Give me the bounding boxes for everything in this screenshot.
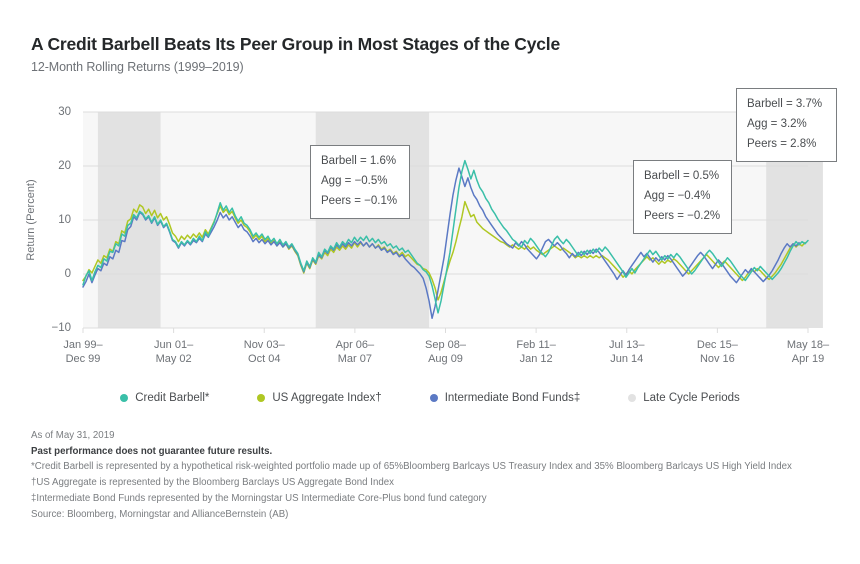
y-axis-tick-label: 0	[65, 268, 71, 280]
legend-item-late-cycle-periods[interactable]: Late Cycle Periods	[628, 392, 740, 404]
x-axis-tick-label-line1: Sep 08–	[425, 339, 467, 351]
x-axis-tick-8: Dec 15–Nov 16	[697, 339, 739, 365]
y-axis-tick-label: −10	[51, 322, 71, 334]
footnote-source: Source: Bloomberg, Morningstar and Allia…	[31, 507, 836, 523]
x-axis-tick-label-line2: Jun 14	[610, 353, 643, 365]
annotation-line-peers: Peers = −0.1%	[321, 192, 399, 212]
x-axis-tick-label-line2: Aug 09	[428, 353, 463, 365]
annotation-line-agg: Agg = 3.2%	[747, 115, 826, 135]
legend-swatch-icon	[628, 394, 636, 402]
footnote-us-aggregate: †US Aggregate is represented by the Bloo…	[31, 475, 836, 491]
legend-item-label: Intermediate Bond Funds‡	[445, 392, 581, 404]
x-axis-tick-label-line2: Mar 07	[338, 353, 372, 365]
legend-item-credit-barbell[interactable]: Credit Barbell*	[120, 392, 209, 404]
footnotes-block: As of May 31, 2019 Past performance does…	[31, 428, 836, 522]
footnote-as-of: As of May 31, 2019	[31, 428, 836, 444]
annotation-line-barbell: Barbell = 3.7%	[747, 95, 826, 115]
annotation-line-peers: Peers = 2.8%	[747, 135, 826, 155]
legend-item-intermediate-bond-funds[interactable]: Intermediate Bond Funds‡	[430, 392, 581, 404]
x-axis-tick-4: Apr 06–Mar 07	[336, 339, 375, 365]
footnote-credit-barbell: *Credit Barbell is represented by a hypo…	[31, 459, 836, 475]
legend-item-label: Late Cycle Periods	[643, 392, 740, 404]
footnote-disclaimer: Past performance does not guarantee futu…	[31, 444, 836, 460]
y-axis-title: Return (Percent)	[25, 179, 37, 260]
chart-page: A Credit Barbell Beats Its Peer Group in…	[0, 0, 860, 564]
x-axis-tick-label-line1: Jan 99–	[63, 339, 103, 351]
legend-item-label: Credit Barbell*	[135, 392, 209, 404]
x-axis-tick-label-line1: Nov 03–	[244, 339, 286, 351]
x-axis-tick-label-line2: May 02	[156, 353, 192, 365]
annotation-line-barbell: Barbell = 1.6%	[321, 152, 399, 172]
legend-swatch-icon	[257, 394, 265, 402]
annotation-line-agg: Agg = −0.4%	[644, 187, 721, 207]
x-axis-tick-label-line2: Nov 16	[700, 353, 735, 365]
y-axis-tick-label: 30	[58, 106, 71, 118]
x-axis-tick-label-line2: Apr 19	[792, 353, 824, 365]
legend-item-label: US Aggregate Index†	[272, 392, 381, 404]
x-axis-tick-2: Jun 01–May 02	[154, 339, 194, 365]
x-axis-tick-5: Sep 08–Aug 09	[425, 339, 467, 365]
x-axis-tick-label-line1: Jul 13–	[609, 339, 645, 351]
x-axis-tick-label-line1: Dec 15–	[697, 339, 739, 351]
x-axis-tick-6: Feb 11–Jan 12	[516, 339, 556, 365]
x-axis-tick-1: Jan 99–Dec 99	[63, 339, 103, 365]
annotation-box-mid-cycle: Barbell = 0.5% Agg = −0.4% Peers = −0.2%	[633, 160, 732, 234]
footnote-intermediate-bond-funds: ‡Intermediate Bond Funds represented by …	[31, 491, 836, 507]
x-axis-tick-label-line2: Oct 04	[248, 353, 280, 365]
chart-legend: Credit Barbell*US Aggregate Index†Interm…	[0, 392, 860, 404]
y-axis-tick-label: 20	[58, 160, 71, 172]
annotation-box-late-cycle: Barbell = 3.7% Agg = 3.2% Peers = 2.8%	[736, 88, 837, 162]
x-axis-tick-label-line1: Apr 06–	[336, 339, 375, 351]
x-axis-tick-7: Jul 13–Jun 14	[609, 339, 645, 365]
x-axis-tick-label-line1: Feb 11–	[516, 339, 556, 351]
x-axis-tick-label-line2: Dec 99	[66, 353, 101, 365]
annotation-box-early-cycle: Barbell = 1.6% Agg = −0.5% Peers = −0.1%	[310, 145, 410, 219]
x-axis-tick-label-line2: Jan 12	[520, 353, 553, 365]
legend-swatch-icon	[120, 394, 128, 402]
y-axis-tick-label: 10	[58, 214, 71, 226]
legend-item-us-aggregate-index[interactable]: US Aggregate Index†	[257, 392, 381, 404]
x-axis-tick-label-line1: Jun 01–	[154, 339, 194, 351]
legend-swatch-icon	[430, 394, 438, 402]
x-axis-tick-3: Nov 03–Oct 04	[244, 339, 286, 365]
x-axis-tick-9: May 18–Apr 19	[787, 339, 830, 365]
annotation-line-agg: Agg = −0.5%	[321, 172, 399, 192]
annotation-line-peers: Peers = −0.2%	[644, 207, 721, 227]
annotation-line-barbell: Barbell = 0.5%	[644, 167, 721, 187]
x-axis-tick-label-line1: May 18–	[787, 339, 830, 351]
